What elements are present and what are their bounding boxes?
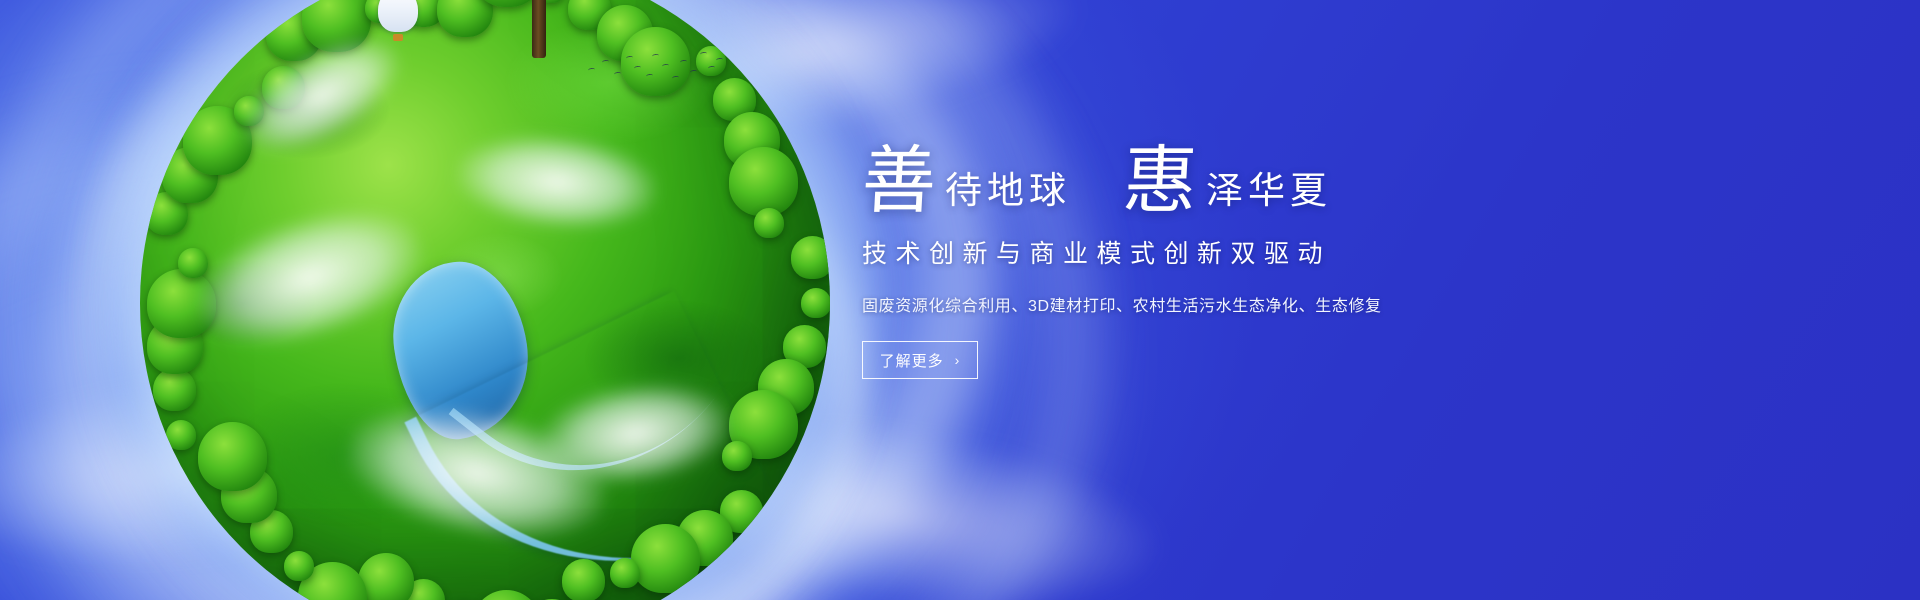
- tiny-planet-image: [140, 0, 830, 600]
- hero-headline: 善 待地球 惠 泽华夏: [862, 132, 1562, 218]
- hero-subtitle: 技术创新与商业模式创新双驱动: [862, 234, 1562, 270]
- learn-more-label: 了解更多: [880, 350, 944, 371]
- hot-air-balloon-icon: [378, 0, 418, 40]
- hero-description: 固废资源化综合利用、3D建材打印、农村生活污水生态净化、生态修复: [862, 292, 1562, 316]
- bird-flock-icon: [588, 48, 718, 90]
- headline-rest-chars-2: 泽华夏: [1197, 173, 1332, 218]
- headline-lead-char-1: 善: [860, 148, 938, 218]
- large-tree-icon: [436, 0, 646, 55]
- learn-more-button[interactable]: 了解更多 ›: [862, 341, 978, 379]
- planet-sphere: [140, 0, 830, 600]
- balloon-basket: [393, 34, 403, 41]
- headline-lead-char-2: 惠: [1121, 148, 1199, 218]
- tree-trunk: [532, 0, 546, 58]
- headline-phrase-two: 惠 泽华夏: [1123, 148, 1332, 218]
- hero-banner: 善 待地球 惠 泽华夏 技术创新与商业模式创新双驱动 固废资源化综合利用、3D建…: [0, 0, 1920, 600]
- headline-phrase-one: 善 待地球: [862, 148, 1071, 218]
- hero-content: 善 待地球 惠 泽华夏 技术创新与商业模式创新双驱动 固废资源化综合利用、3D建…: [862, 132, 1562, 379]
- chevron-right-icon: ›: [955, 353, 961, 367]
- headline-rest-chars-1: 待地球: [936, 173, 1071, 218]
- balloon-envelope: [378, 0, 418, 32]
